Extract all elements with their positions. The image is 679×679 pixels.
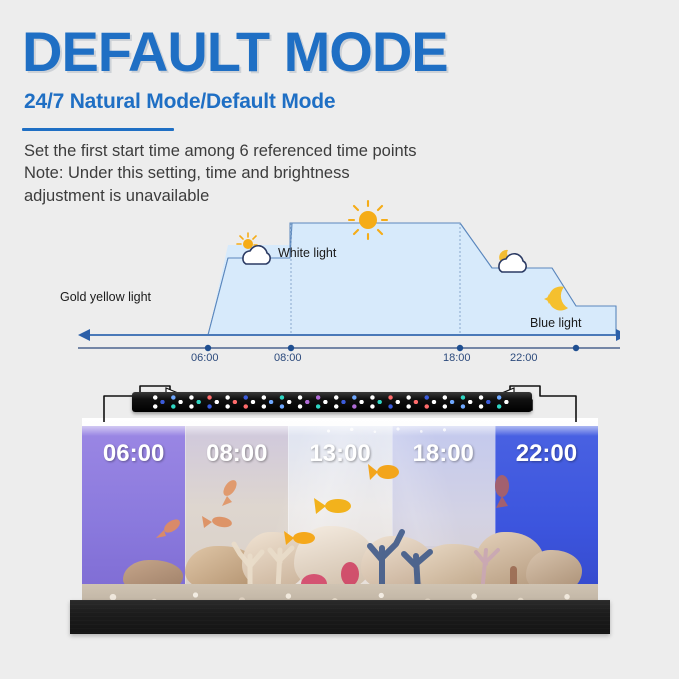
sun-icon <box>349 201 387 239</box>
x-tick-label-0600: 06:00 <box>191 352 219 364</box>
axis-arrow-right-icon <box>616 329 620 341</box>
chart-annotation-blue: Blue light <box>530 316 581 330</box>
x-tick-label-1800: 18:00 <box>443 352 471 364</box>
description-line-2: Note: Under this setting, time and brigh… <box>24 162 624 184</box>
title-divider <box>22 128 174 131</box>
light-schedule-chart: Gold yellow light White light Blue light… <box>60 198 620 370</box>
fish <box>495 475 509 508</box>
moon-cloud-icon <box>499 250 526 272</box>
description-block: Set the first start time among 6 referen… <box>24 140 624 207</box>
page-title: DEFAULT MODE <box>22 24 662 80</box>
fish <box>202 515 233 528</box>
page-subtitle: 24/7 Natural Mode/Default Mode <box>24 90 662 114</box>
time-label-1300: 13:00 <box>309 440 370 467</box>
fish <box>314 498 351 514</box>
tick-dot-0600 <box>205 345 211 351</box>
chart-svg <box>60 198 620 370</box>
axis-arrow-left-icon <box>78 329 90 341</box>
base-wood-grain <box>70 600 610 634</box>
chart-annotation-white: White light <box>278 246 336 260</box>
chart-annotation-gold-yellow: Gold yellow light <box>60 290 151 304</box>
tick-dot-1800 <box>457 345 463 351</box>
page-root: DEFAULT MODE 24/7 Natural Mode/Default M… <box>0 0 679 679</box>
fish <box>156 517 182 538</box>
aquarium-base-stand <box>70 600 610 634</box>
description-line-1: Set the first start time among 6 referen… <box>24 140 624 162</box>
time-panel-labels: 06:00 08:00 13:00 18:00 22:00 <box>82 440 598 468</box>
header: DEFAULT MODE 24/7 Natural Mode/Default M… <box>22 24 662 131</box>
aquarium-tank: 06:00 08:00 13:00 18:00 22:00 <box>82 426 598 606</box>
time-label-1800: 18:00 <box>413 440 474 467</box>
aquarium-illustration: 06:00 08:00 13:00 18:00 22:00 <box>70 378 610 650</box>
led-row-bottom <box>148 404 510 409</box>
led-array <box>148 395 510 409</box>
x-tick-label-0800: 08:00 <box>274 352 302 364</box>
fish <box>221 478 240 506</box>
time-label-0600: 06:00 <box>103 440 164 467</box>
tick-dot-0800 <box>288 345 294 351</box>
fish <box>284 531 315 545</box>
time-label-0800: 08:00 <box>206 440 267 467</box>
x-tick-label-2200: 22:00 <box>510 352 538 364</box>
tick-dot-end <box>573 345 579 351</box>
aquarium-led-light-bar <box>132 392 532 412</box>
time-label-2200: 22:00 <box>516 440 577 467</box>
